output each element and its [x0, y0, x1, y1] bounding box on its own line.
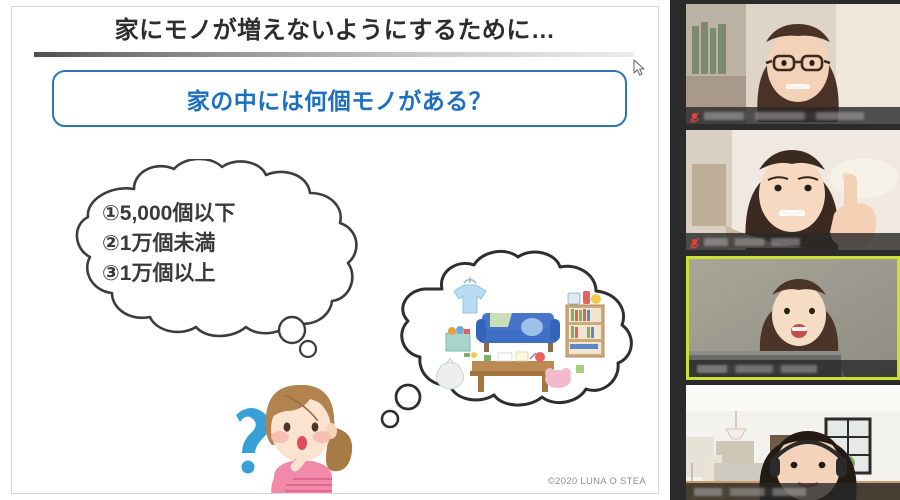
participant-video-1: [686, 4, 900, 124]
participant-1-frame: [686, 4, 900, 124]
thought-bubble-answers: ①5,000個以下 ②1万個未満 ③1万個以上: [64, 159, 384, 359]
participant-tile-1[interactable]: [686, 4, 900, 124]
participant-tile-4[interactable]: [686, 385, 900, 500]
answer-option: ②1万個未満: [102, 229, 352, 259]
participant-name-bar-1: [686, 107, 900, 124]
mute-icon: [690, 110, 699, 121]
participant-name-4-redacted: [694, 488, 806, 496]
participant-name-bar-2: [686, 233, 900, 250]
question-box: 家の中には何個モノがある？: [52, 70, 627, 127]
screen-share-window: 家にモノが増えないようにするために… 家の中には何個モノがある？ ①5,000個…: [0, 0, 900, 500]
page-title: 家にモノが増えないようにするために…: [12, 17, 658, 45]
woman-thinking-shape: [232, 375, 402, 494]
participant-2-frame: [686, 130, 900, 250]
title-divider: [34, 52, 634, 57]
question-box-text: 家の中には何個モノがある？: [187, 82, 493, 116]
participant-name-bar-4: [686, 483, 900, 500]
copyright-text: ©2020 LUNA O STEA: [548, 476, 646, 487]
participant-name-bar-3: [689, 360, 897, 377]
answer-option: ①5,000個以下: [102, 199, 352, 229]
illustration-bookshelf: [566, 291, 604, 357]
participant-video-rail: [670, 0, 900, 500]
illustration-woman-thinking: [232, 375, 402, 494]
mute-icon: [690, 236, 699, 247]
answer-option-list: ①5,000個以下 ②1万個未満 ③1万個以上: [102, 199, 352, 288]
slide-canvas[interactable]: 家にモノが増えないようにするために… 家の中には何個モノがある？ ①5,000個…: [11, 6, 659, 494]
participant-tile-3[interactable]: [686, 256, 900, 380]
mute-icon-glyph: [690, 238, 699, 249]
presentation-stage: 家にモノが増えないようにするために… 家の中には何個モノがある？ ①5,000個…: [0, 0, 670, 500]
participant-name-1-redacted: [704, 112, 864, 120]
participant-video-2: [686, 130, 900, 250]
participant-name-3-redacted: [697, 365, 817, 373]
thought-bubble-room-shape: [380, 247, 640, 432]
answer-option: ③1万個以上: [102, 259, 352, 289]
mute-icon-glyph: [690, 112, 699, 123]
participant-name-2-redacted: [704, 238, 800, 246]
thought-bubble-room: [380, 247, 640, 432]
participant-tile-2[interactable]: [686, 130, 900, 250]
